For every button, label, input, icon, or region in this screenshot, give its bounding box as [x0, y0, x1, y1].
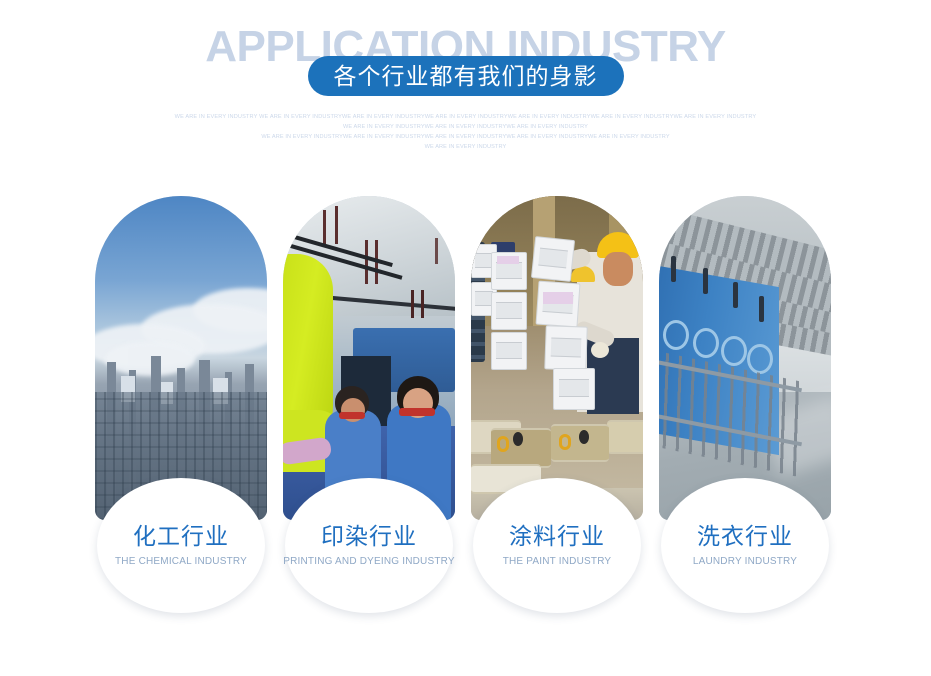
- industry-card-list: 化工行业 THE CHEMICAL INDUSTRY: [95, 196, 840, 616]
- microtext-line-2: WE ARE IN EVERY INDUSTRYWE ARE IN EVERY …: [0, 122, 931, 132]
- industrial-laundry-machines-photo: [659, 196, 831, 520]
- industry-card-laundry[interactable]: 洗衣行业 LAUNDRY INDUSTRY: [659, 196, 831, 616]
- card-label-bubble-paint: 涂料行业 THE PAINT INDUSTRY: [473, 478, 641, 613]
- chemical-plant-photo: [95, 196, 267, 520]
- card-title-cn: 洗衣行业: [697, 524, 793, 549]
- subtitle-badge: 各个行业都有我们的身影: [308, 56, 624, 96]
- industry-card-printing-dyeing[interactable]: 印染行业 PRINTING AND DYEING INDUSTRY: [283, 196, 455, 616]
- application-industry-page: APPLICATION INDUSTRY 各个行业都有我们的身影 WE ARE …: [0, 0, 931, 676]
- card-title-en: LAUNDRY INDUSTRY: [693, 556, 797, 567]
- card-title-cn: 印染行业: [321, 524, 417, 549]
- microtext-line-3: WE ARE IN EVERY INDUSTRYWE ARE IN EVERY …: [0, 132, 931, 142]
- card-label-bubble-laundry: 洗衣行业 LAUNDRY INDUSTRY: [661, 478, 829, 613]
- card-title-cn: 化工行业: [133, 524, 229, 549]
- card-label-bubble-printing-dyeing: 印染行业 PRINTING AND DYEING INDUSTRY: [285, 478, 453, 613]
- microtext-line-1: WE ARE IN EVERY INDUSTRY WE ARE IN EVERY…: [0, 112, 931, 122]
- card-label-bubble-chemical: 化工行业 THE CHEMICAL INDUSTRY: [97, 478, 265, 613]
- card-title-en: THE PAINT INDUSTRY: [503, 556, 612, 567]
- microtext-line-4: WE ARE IN EVERY INDUSTRY: [0, 142, 931, 152]
- page-header: APPLICATION INDUSTRY 各个行业都有我们的身影 WE ARE …: [0, 0, 931, 175]
- card-title-en: PRINTING AND DYEING INDUSTRY: [283, 556, 455, 567]
- industry-card-chemical[interactable]: 化工行业 THE CHEMICAL INDUSTRY: [95, 196, 267, 616]
- decorative-microtext-block: WE ARE IN EVERY INDUSTRY WE ARE IN EVERY…: [0, 112, 931, 152]
- card-title-en: THE CHEMICAL INDUSTRY: [115, 556, 247, 567]
- paint-buckets-warehouse-photo: [471, 196, 643, 520]
- industry-card-paint[interactable]: 涂料行业 THE PAINT INDUSTRY: [471, 196, 643, 616]
- textile-dyeing-factory-photo: [283, 196, 455, 520]
- card-title-cn: 涂料行业: [509, 524, 605, 549]
